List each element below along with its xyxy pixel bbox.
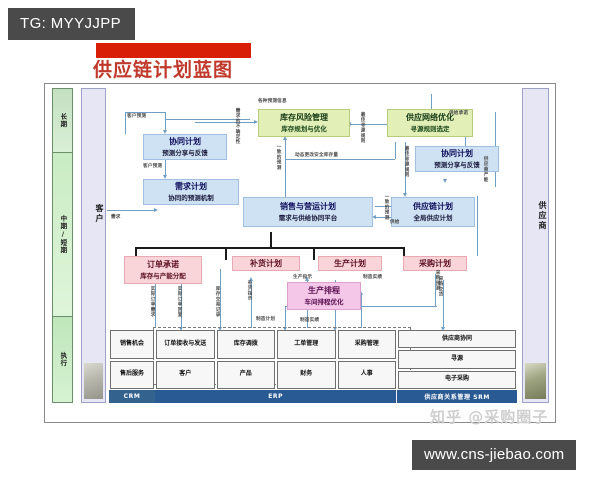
box-supply-chain-plan[interactable]: 供应链计划 全局供应计划 — [391, 197, 475, 227]
annotation-inventory-record: 库存交易记录 — [214, 286, 220, 316]
box-title: 采购计划 — [419, 259, 451, 269]
connector — [165, 112, 166, 130]
sys-cell-erp-1-1[interactable]: 产品 — [217, 361, 276, 390]
systems-erp-srm-column: 订单接收与发送 库存调拨 工单管理 采购管理 客户 产品 财务 人事 — [155, 329, 517, 403]
box-title: 供应网络优化 — [406, 113, 454, 123]
annotation-consistent-forecast-2: 一致的预测 — [383, 194, 389, 222]
connector — [443, 280, 444, 328]
box-production-plan[interactable]: 生产计划 — [318, 256, 382, 271]
box-sales-and-operations-planning[interactable]: 销售与营运计划 需求与供给协同平台 — [243, 197, 373, 227]
sys-cell-erp-0-2[interactable]: 工单管理 — [277, 330, 336, 359]
sys-cell-erp-1-3[interactable]: 人事 — [338, 361, 397, 390]
box-subtitle: 全局供应计划 — [414, 214, 453, 222]
sys-cell-crm-0[interactable]: 销售机会 — [110, 330, 154, 359]
annotation-demand: 需求 — [111, 214, 121, 220]
box-title: 销售与营运计划 — [280, 202, 336, 212]
box-demand-plan[interactable]: 需求计划 协同的预测机制 — [143, 179, 239, 205]
box-title: 补货计划 — [250, 259, 282, 269]
connector — [155, 280, 156, 328]
connector-arrow — [443, 179, 447, 183]
box-subtitle: 库存与产能分配 — [140, 272, 186, 280]
annotation-demand-uncertainty: 需求的不确定性 — [234, 108, 240, 170]
annotation-actual-order-demand: 实际订单需求 — [149, 286, 155, 316]
connector — [195, 122, 255, 123]
connector — [477, 196, 478, 256]
connector — [285, 139, 286, 199]
annotation-production-actual-2: 制造实绩 — [300, 317, 319, 323]
annotation-supply-promise: 供给承诺 — [449, 110, 468, 116]
connector — [165, 158, 166, 176]
box-subtitle: 需求与供给协同平台 — [279, 214, 338, 222]
connector — [285, 306, 286, 328]
page-title: 供应链计划蓝图 — [93, 55, 233, 82]
connector — [220, 269, 221, 328]
sys-cell-erp-0-1[interactable]: 库存调拨 — [217, 330, 276, 359]
box-title: 供应链计划 — [413, 202, 453, 212]
annotation-dynamic-safety-stock: 动态更改安全库存量 — [295, 152, 338, 158]
system-band-srm: 供应商关系管理 SRM — [396, 390, 517, 403]
diagram-frame: 长期 中期/短期 执行 客户 供应商 — [44, 83, 556, 423]
annotation-customer-forecast-1: 客户预测 — [127, 113, 146, 119]
screenshot-root: TG: MYYJJPP www.cns-jiebao.com 知乎 @采购圈子 … — [0, 0, 600, 480]
zhihu-watermark: 知乎 @采购圈子 — [430, 406, 548, 427]
box-inventory-risk-management[interactable]: 库存风险管理 库存规划与优化 — [258, 109, 350, 137]
sys-cell-srm-0[interactable]: 供应商协同 — [398, 330, 516, 348]
planning-horizon-axis: 长期 中期/短期 执行 — [52, 88, 73, 403]
systems-landscape: 销售机会 售后服务 CRM 订单接收与发送 库存调拨 工单管理 采购管理 — [109, 329, 517, 403]
annotation-supplier-capacity: 供应商产能 — [482, 156, 488, 192]
box-title: 生产排程 — [308, 286, 340, 296]
sys-cell-erp-1-0[interactable]: 客户 — [156, 361, 215, 390]
supplier-truck-photo — [525, 363, 546, 399]
horizon-item-execution: 执行 — [53, 317, 72, 402]
sys-cell-srm-2[interactable]: 电子采购 — [398, 371, 516, 389]
box-subtitle: 预测分享与反馈 — [434, 161, 480, 169]
sys-cell-erp-1-2[interactable]: 财务 — [277, 361, 336, 390]
lane-supplier-label: 供应商 — [523, 201, 548, 231]
box-title: 协同计划 — [441, 149, 473, 159]
box-replenishment-plan[interactable]: 补货计划 — [232, 256, 300, 271]
sys-cell-erp-0-3[interactable]: 采购管理 — [338, 330, 397, 359]
annotation-best-source-rule: 最佳寻源规则 — [359, 112, 365, 144]
sys-cell-srm-1[interactable]: 寻源 — [398, 350, 516, 368]
sys-cell-crm-1[interactable]: 售后服务 — [110, 361, 154, 390]
lane-customer: 客户 — [81, 88, 106, 403]
tg-watermark-badge: TG: MYYJJPP — [8, 8, 135, 40]
sys-cell-erp-0-0[interactable]: 订单接收与发送 — [156, 330, 215, 359]
connector — [107, 210, 155, 211]
system-band-crm: CRM — [109, 390, 155, 403]
annotation-replenishment-order: 补货指示 — [246, 280, 252, 308]
connector — [313, 247, 315, 260]
connector — [285, 159, 395, 160]
annotation-actual-order-reply: 实际订单回复 — [176, 286, 182, 316]
connector — [225, 247, 227, 260]
horizon-item-mid-short-term: 中期/短期 — [53, 153, 72, 317]
box-production-scheduling[interactable]: 生产排程 车间排程优化 — [287, 282, 361, 310]
annotation-best-source-rule-2: 最佳寻源规则 — [403, 146, 409, 180]
lane-customer-label: 客户 — [82, 204, 105, 224]
box-subtitle: 库存规划与优化 — [281, 125, 327, 133]
box-subtitle: 协同的预测机制 — [168, 194, 214, 202]
connector — [125, 112, 126, 134]
annotation-supply: 供给 — [390, 219, 400, 225]
box-subtitle: 寻源规则选定 — [411, 125, 450, 133]
connector — [361, 294, 362, 328]
annotation-production-order: 生产指示 — [293, 274, 312, 280]
box-title: 生产计划 — [334, 259, 366, 269]
annotation-production-actual-1: 制造实绩 — [363, 274, 382, 280]
box-title: 订单承诺 — [147, 260, 179, 270]
annotation-consistent-forecast-1: 一致的预测 — [275, 144, 281, 184]
annotation-manufacturing-plan: 制造计划 — [256, 316, 275, 322]
customer-photo — [84, 363, 103, 399]
box-purchase-plan[interactable]: 采购计划 — [403, 256, 467, 271]
connector — [270, 232, 272, 248]
site-url-badge: www.cns-jiebao.com — [412, 440, 576, 470]
annotation-purchase-delivery: 采购交货 — [437, 276, 443, 306]
box-title: 协同计划 — [169, 137, 201, 147]
lane-supplier: 供应商 — [522, 88, 549, 403]
horizon-item-long-term: 长期 — [53, 89, 72, 153]
box-order-promise[interactable]: 订单承诺 库存与产能分配 — [124, 256, 202, 284]
box-collab-plan-left[interactable]: 协同计划 预测分享与反馈 — [143, 134, 227, 160]
box-title: 需求计划 — [175, 182, 207, 192]
system-band-erp: ERP — [155, 390, 396, 403]
annotation-customer-forecast-2: 客户预测 — [143, 163, 162, 169]
connector — [395, 142, 396, 159]
annotation-forecast-various: 各种预测信息 — [258, 98, 287, 104]
connector-arrow — [154, 208, 158, 212]
systems-crm-column: 销售机会 售后服务 CRM — [109, 329, 155, 403]
box-subtitle: 预测分享与反馈 — [162, 149, 208, 157]
box-subtitle: 车间排程优化 — [305, 298, 344, 306]
box-title: 库存风险管理 — [280, 113, 328, 123]
